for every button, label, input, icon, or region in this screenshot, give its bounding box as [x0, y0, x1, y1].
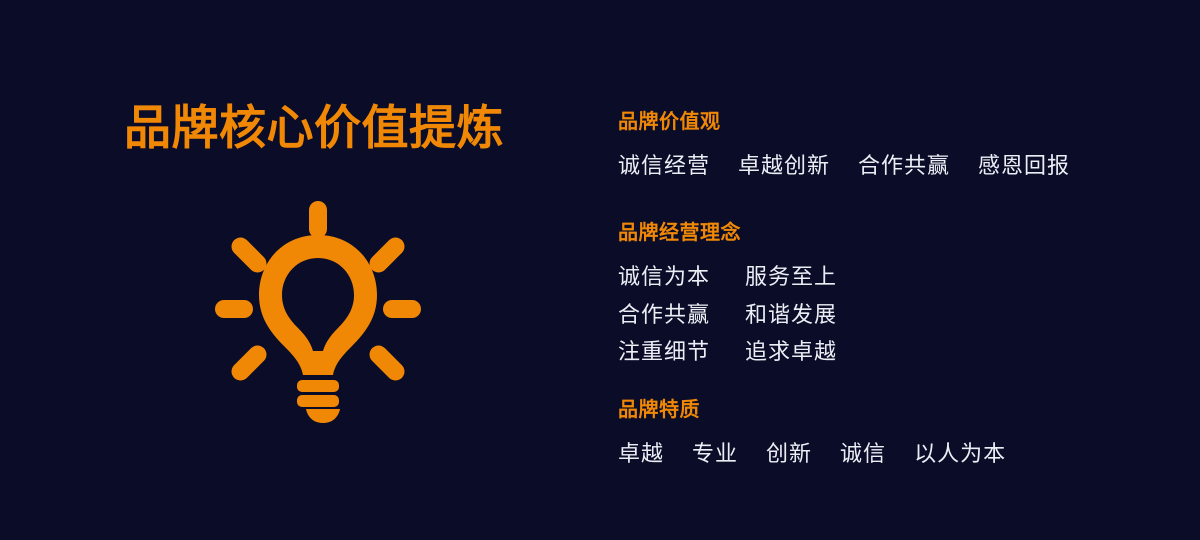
list-item: 合作共赢 和谐发展 — [618, 300, 837, 330]
trait-item-list: 卓越 专业 创新 诚信 以人为本 — [618, 439, 1006, 469]
lightbulb-icon — [212, 196, 424, 424]
value-item-list: 诚信经营 卓越创新 合作共赢 感恩回报 — [618, 151, 1070, 181]
slide-root: 品牌核心价值提炼 — [0, 0, 1200, 540]
pair-right-text: 和谐发展 — [745, 300, 837, 330]
pair-right-text: 追求卓越 — [745, 337, 837, 367]
list-item: 合作共赢 — [858, 151, 950, 181]
pair-left-text: 注重细节 — [618, 337, 745, 367]
page-title: 品牌核心价值提炼 — [124, 104, 504, 151]
list-item: 专业 — [692, 439, 738, 469]
pair-left-text: 诚信为本 — [618, 262, 745, 292]
list-item: 感恩回报 — [978, 151, 1070, 181]
list-item: 诚信 — [840, 439, 886, 469]
section-brand-values: 品牌价值观 诚信经营 卓越创新 合作共赢 感恩回报 — [618, 110, 1070, 181]
list-item: 以人为本 — [914, 439, 1006, 469]
pair-right-text: 服务至上 — [745, 262, 837, 292]
section-brand-traits: 品牌特质 卓越 专业 创新 诚信 以人为本 — [618, 398, 1006, 469]
section-heading: 品牌特质 — [618, 398, 1006, 422]
list-item: 注重细节 追求卓越 — [618, 337, 837, 367]
list-item: 诚信经营 — [618, 151, 710, 181]
list-item: 创新 — [766, 439, 812, 469]
list-item: 卓越创新 — [738, 151, 830, 181]
section-business-philosophy: 品牌经营理念 诚信为本 服务至上 合作共赢 和谐发展 注重细节 追求卓越 — [618, 221, 837, 367]
list-item: 卓越 — [618, 439, 664, 469]
section-heading: 品牌价值观 — [618, 110, 1070, 134]
right-panel: 品牌价值观 诚信经营 卓越创新 合作共赢 感恩回报 品牌经营理念 诚信为本 服务… — [618, 0, 1178, 540]
left-panel: 品牌核心价值提炼 — [0, 0, 600, 540]
pair-left-text: 合作共赢 — [618, 300, 745, 330]
philosophy-pair-list: 诚信为本 服务至上 合作共赢 和谐发展 注重细节 追求卓越 — [618, 262, 837, 367]
list-item: 诚信为本 服务至上 — [618, 262, 837, 292]
section-heading: 品牌经营理念 — [618, 221, 837, 245]
